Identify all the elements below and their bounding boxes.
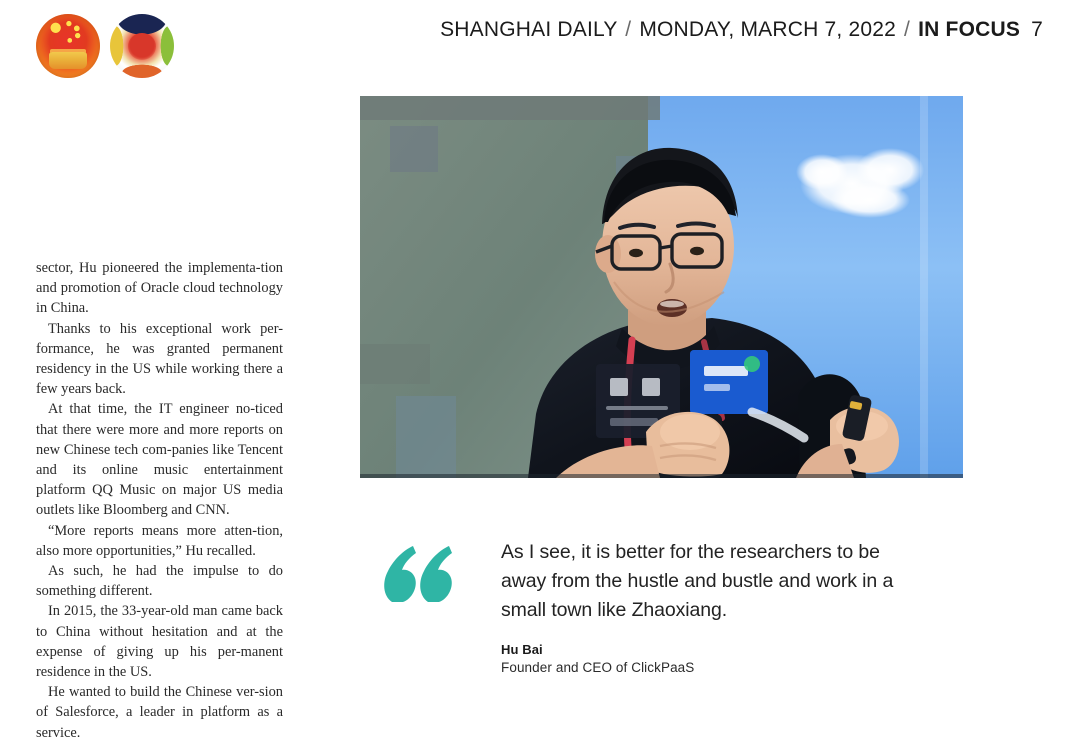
- pull-quote-line: As I see, it is better for the researche…: [501, 538, 982, 567]
- article-paragraph: Thanks to his exceptional work per-forma…: [36, 319, 283, 400]
- national-emblem-of-china-icon: [36, 14, 100, 78]
- publication-name: SHANGHAI DAILY: [440, 18, 617, 41]
- article-paragraph: He wanted to build the Chinese ver-sion …: [36, 682, 283, 743]
- pull-quote-line: small town like Zhaoxiang.: [501, 596, 982, 625]
- emblem-group: [36, 14, 174, 78]
- article-paragraph: As such, he had the impulse to do someth…: [36, 561, 283, 601]
- article-photo: [360, 96, 963, 478]
- masthead-separator-2: /: [902, 18, 912, 41]
- article-paragraph: At that time, the IT engineer no-ticed t…: [36, 399, 283, 520]
- page-number: 7: [1026, 18, 1043, 41]
- quotation-mark-icon: [382, 544, 454, 604]
- cppcc-emblem-icon: [110, 14, 174, 78]
- quote-attribution-role: Founder and CEO of ClickPaaS: [501, 660, 982, 675]
- pull-quote-block: As I see, it is better for the researche…: [382, 538, 982, 675]
- article-paragraph: “More reports means more atten-tion, als…: [36, 521, 283, 561]
- issue-date: MONDAY, MARCH 7, 2022: [639, 18, 896, 41]
- quote-attribution-name: Hu Bai: [501, 642, 982, 657]
- pull-quote-body: As I see, it is better for the researche…: [501, 538, 982, 675]
- masthead: SHANGHAI DAILY / MONDAY, MARCH 7, 2022 /…: [0, 0, 1079, 92]
- speaker-photo-illustration: [360, 96, 963, 478]
- article-paragraph: In 2015, the 33-year-old man came back t…: [36, 601, 283, 682]
- article-text-column: sector, Hu pioneered the implementa-tion…: [36, 258, 283, 743]
- pull-quote-line: away from the hustle and bustle and work…: [501, 567, 982, 596]
- masthead-header-line: SHANGHAI DAILY / MONDAY, MARCH 7, 2022 /…: [440, 18, 1043, 42]
- masthead-separator-1: /: [623, 18, 633, 41]
- section-name: IN FOCUS: [918, 18, 1020, 41]
- article-paragraph: sector, Hu pioneered the implementa-tion…: [36, 258, 283, 319]
